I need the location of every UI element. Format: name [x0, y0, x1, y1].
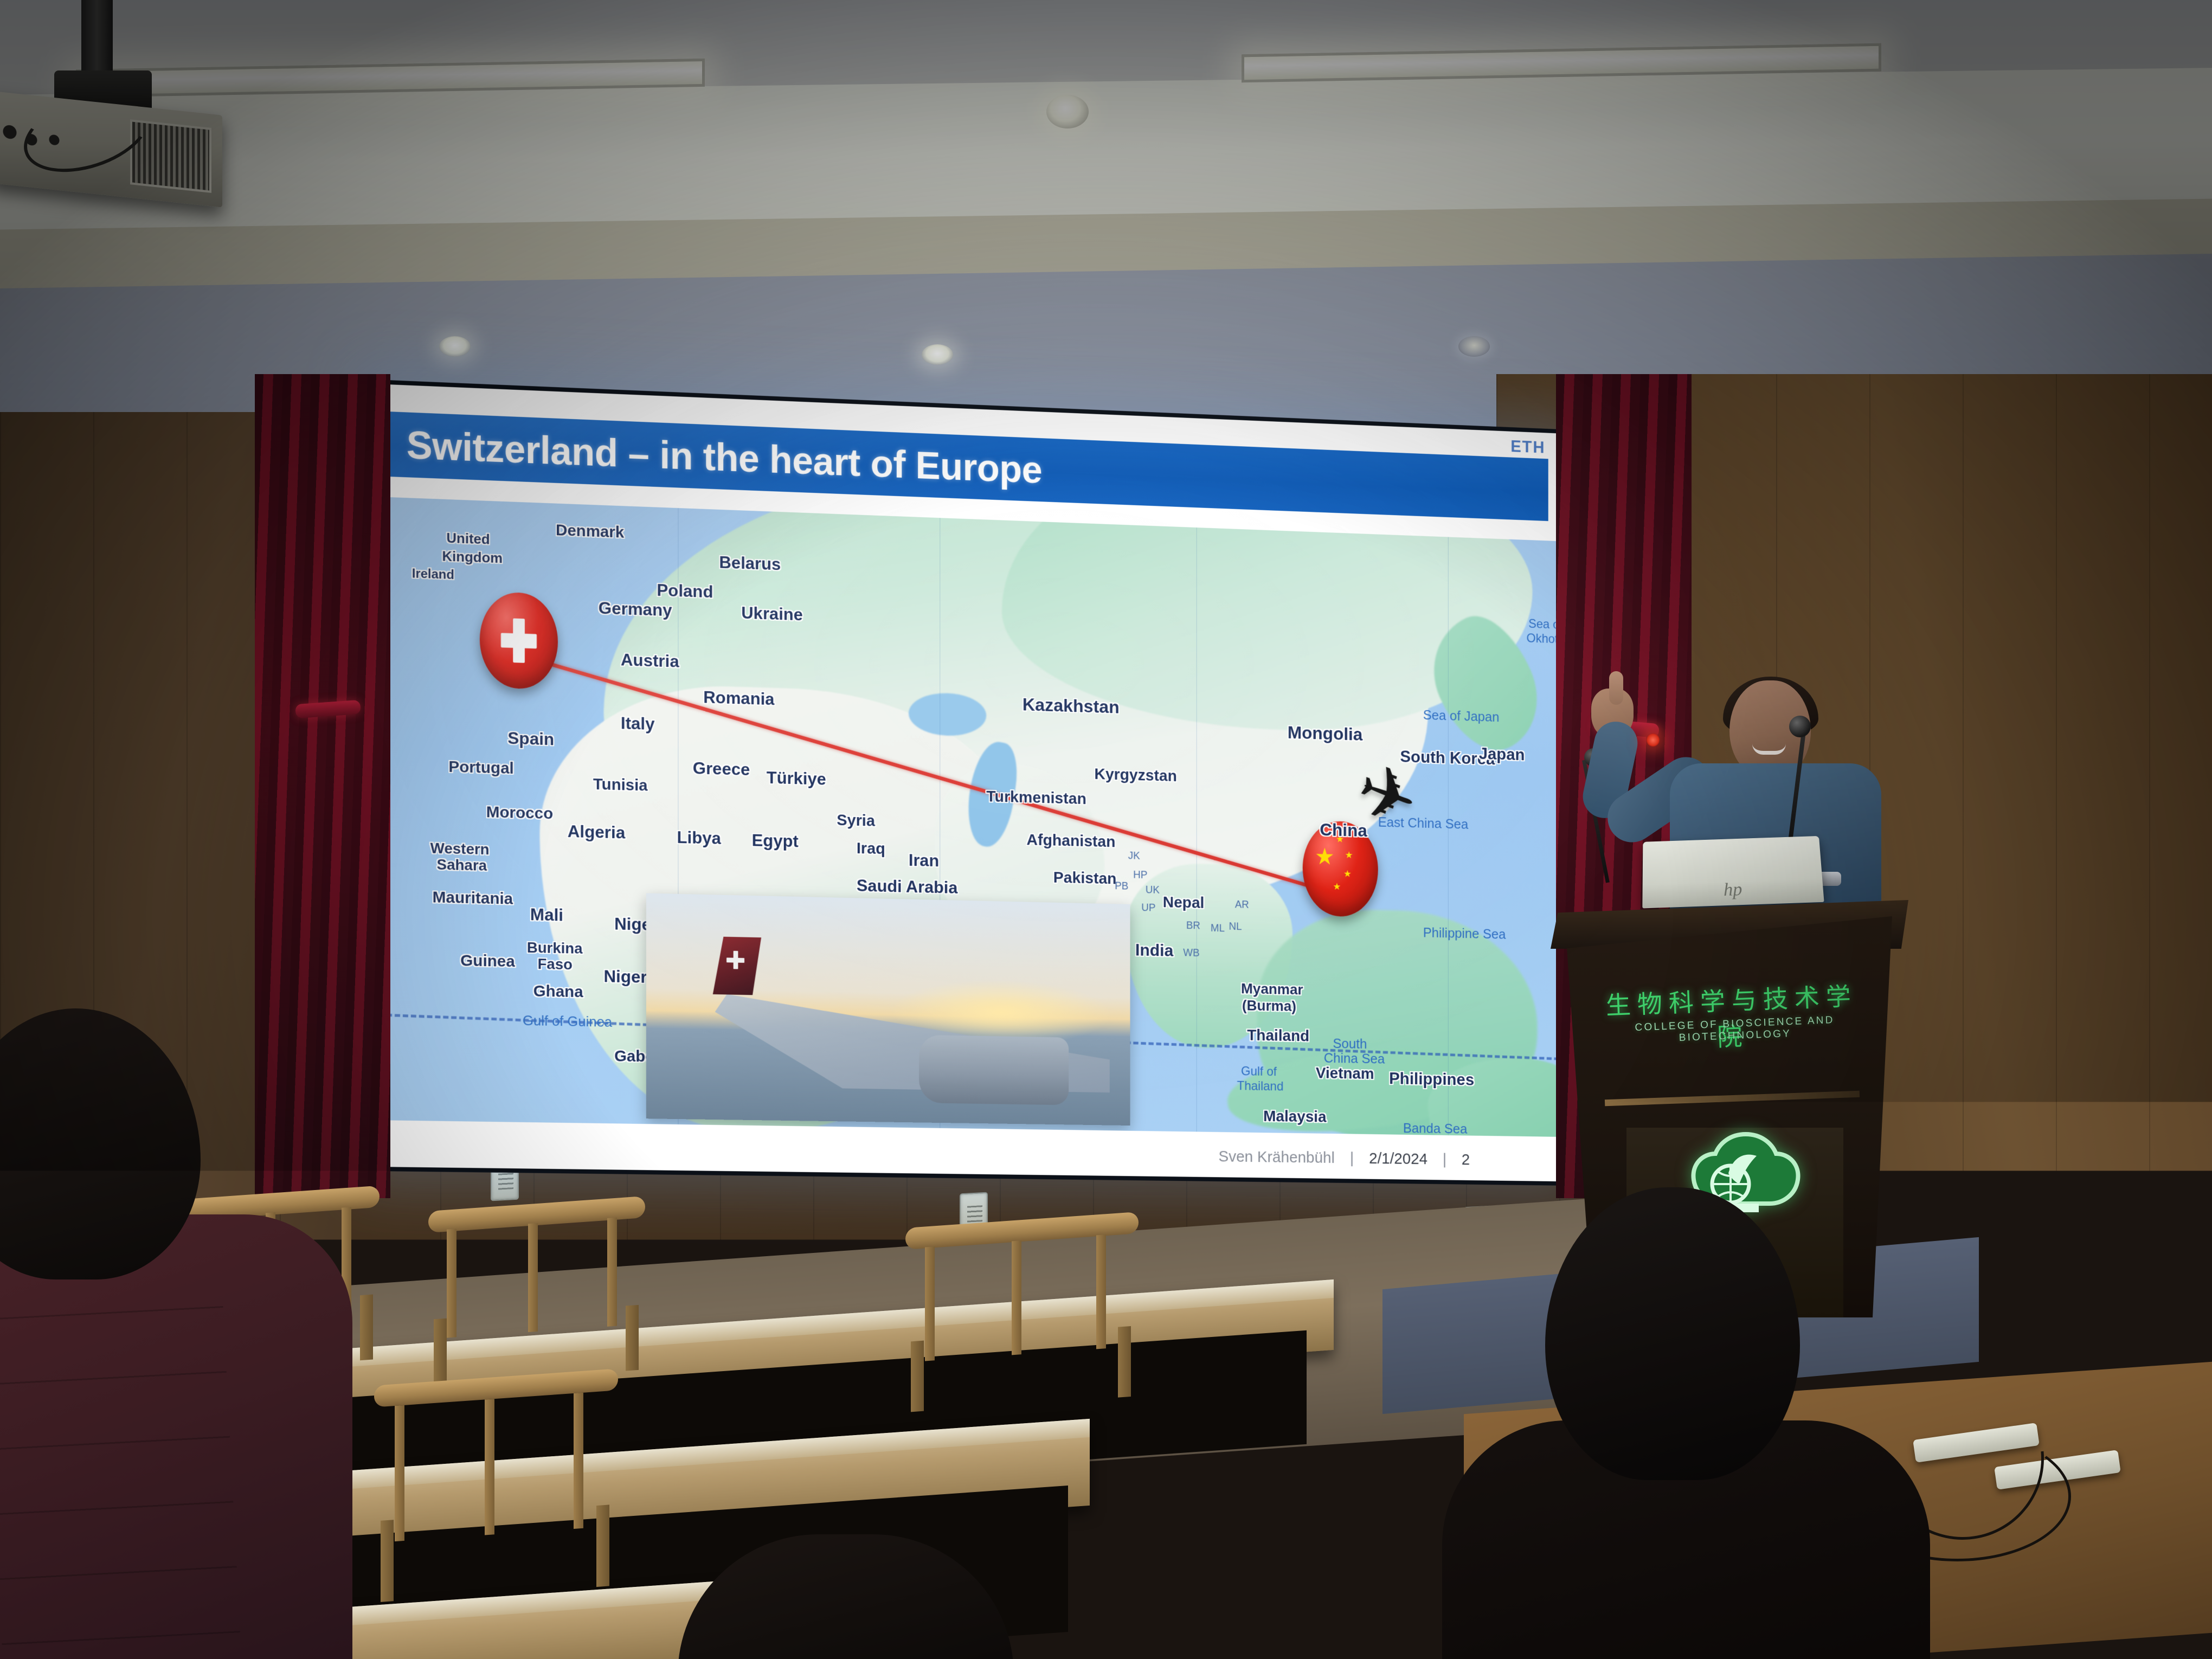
map-label: Kingdom	[442, 549, 503, 565]
audience-member-far-right	[1930, 1377, 2212, 1659]
map-label: Okhotsk	[1527, 632, 1559, 646]
map-label: Guinea	[460, 953, 515, 970]
map-label: Iraq	[857, 840, 885, 857]
jacket-quilting	[0, 1306, 243, 1659]
map-label: Iran	[909, 851, 939, 869]
downlight-icon	[439, 336, 471, 357]
inset-photo-airplane-wing	[646, 893, 1130, 1126]
map-label: Burkina	[527, 940, 583, 956]
footer-date: 2/1/2024	[1369, 1150, 1427, 1168]
projection-screen: ETH Switzerland – in the heart of Europe	[374, 380, 1563, 1186]
microphone-icon	[1789, 716, 1811, 737]
map-label: Morocco	[486, 804, 553, 822]
world-map: ★ ★ ★ ★ ★ ✈ IrelandUnitedKingdomDenmarkB…	[378, 497, 1559, 1137]
map-label: Turkmenistan	[986, 789, 1086, 808]
chair	[905, 1212, 1139, 1412]
swiss-cross-icon	[726, 951, 744, 969]
slide-footer-text: Sven Krähenbühl | 2/1/2024 | 2	[1218, 1148, 1470, 1169]
swiss-flag-pin-icon	[480, 591, 558, 690]
map-label: United	[446, 531, 490, 546]
map-label: Afghanistan	[1026, 832, 1115, 851]
map-label: Faso	[538, 956, 573, 973]
downlight-icon	[1458, 336, 1490, 357]
projector-mount-pole	[81, 0, 113, 81]
map-gridline	[1197, 528, 1197, 1131]
chair	[374, 1368, 618, 1602]
lecture-hall-photo: ETH Switzerland – in the heart of Europe	[0, 0, 2212, 1659]
map-label: Gulf of	[1241, 1065, 1277, 1079]
map-label: JK	[1128, 851, 1140, 861]
map-label: BR	[1186, 920, 1200, 931]
audience-head	[1545, 1187, 1800, 1480]
map-label: Vietnam	[1316, 1065, 1374, 1082]
map-label: Pakistan	[1053, 870, 1117, 888]
map-label: Sahara	[437, 857, 487, 874]
map-label: NL	[1229, 921, 1242, 932]
map-label: Austria	[621, 651, 679, 671]
map-label: Japan	[1479, 745, 1525, 763]
map-label: Thailand	[1237, 1080, 1284, 1094]
laser-pointer-indicator	[1646, 733, 1660, 747]
map-label: PB	[1115, 881, 1128, 892]
map-label: Sea of	[1528, 618, 1559, 632]
map-label: Belarus	[719, 554, 781, 573]
map-label: WB	[1183, 948, 1199, 959]
map-label: Myanmar	[1241, 981, 1303, 998]
presentation-slide: ETH Switzerland – in the heart of Europe	[378, 384, 1559, 1181]
footer-separator-2: |	[1443, 1151, 1446, 1168]
map-label: Algeria	[568, 822, 625, 841]
airplane-engine	[919, 1035, 1069, 1105]
map-label: Nepal	[1163, 895, 1205, 911]
map-label: UK	[1146, 885, 1160, 896]
map-label: Denmark	[556, 522, 624, 541]
eth-logo: ETH	[1510, 436, 1545, 457]
map-label: Egypt	[752, 832, 799, 850]
map-label: Philippines	[1389, 1070, 1474, 1088]
map-label: AR	[1235, 899, 1249, 910]
map-label: Türkiye	[767, 769, 826, 788]
footer-page-number: 2	[1462, 1151, 1470, 1168]
map-label: Gulf of Guinea	[523, 1013, 612, 1029]
map-gridline	[1448, 537, 1449, 1135]
presenter-pointing-finger	[1609, 671, 1623, 705]
map-label: China Sea	[1324, 1051, 1385, 1065]
map-label: Sea of Japan	[1423, 708, 1500, 724]
map-label: Libya	[677, 828, 721, 847]
map-label: Poland	[657, 581, 713, 601]
map-label: East China Sea	[1378, 815, 1468, 831]
map-label: Mauritania	[433, 889, 513, 908]
map-label: Ghana	[533, 983, 583, 1001]
map-label: UP	[1141, 903, 1155, 914]
footer-author: Sven Krähenbühl	[1218, 1148, 1334, 1167]
map-label: Italy	[621, 714, 655, 732]
map-label: Tunisia	[593, 776, 648, 794]
map-label: Romania	[703, 689, 774, 708]
map-label: Syria	[837, 812, 875, 829]
map-label: HP	[1133, 870, 1147, 880]
map-label: Spain	[507, 729, 554, 748]
hp-logo: hp	[1723, 879, 1742, 901]
footer-separator-1: |	[1350, 1149, 1354, 1167]
map-label: Saudi Arabia	[857, 877, 957, 896]
map-label: Western	[430, 841, 490, 858]
chair	[428, 1196, 645, 1385]
map-label: China	[1320, 821, 1367, 840]
map-label: Banda Sea	[1403, 1121, 1467, 1136]
map-label: Greece	[693, 759, 750, 778]
map-label: Portugal	[448, 759, 513, 777]
map-label: ML	[1211, 923, 1225, 934]
map-label: Germany	[599, 599, 672, 619]
map-label: Philippine Sea	[1423, 925, 1506, 941]
map-label: Kyrgyzstan	[1094, 766, 1176, 785]
downlight-icon	[922, 344, 953, 365]
presenter-laptop[interactable]: hp	[1642, 836, 1824, 909]
map-label: Mali	[530, 905, 563, 924]
map-label: Mongolia	[1288, 724, 1362, 744]
map-label: Ukraine	[741, 604, 803, 623]
map-label: Kazakhstan	[1023, 696, 1120, 717]
map-label: South	[1333, 1037, 1367, 1051]
map-label: (Burma)	[1242, 998, 1296, 1014]
map-label: Thailand	[1247, 1027, 1309, 1045]
audience-member-foreground-right	[1464, 1187, 1941, 1659]
map-label: India	[1135, 941, 1173, 959]
audience-member-foreground-left	[0, 1008, 342, 1659]
ceiling-dome-light-icon	[1046, 95, 1089, 128]
map-label: Ireland	[412, 567, 454, 582]
audience-head	[0, 1008, 201, 1279]
map-label: Malaysia	[1263, 1109, 1326, 1126]
